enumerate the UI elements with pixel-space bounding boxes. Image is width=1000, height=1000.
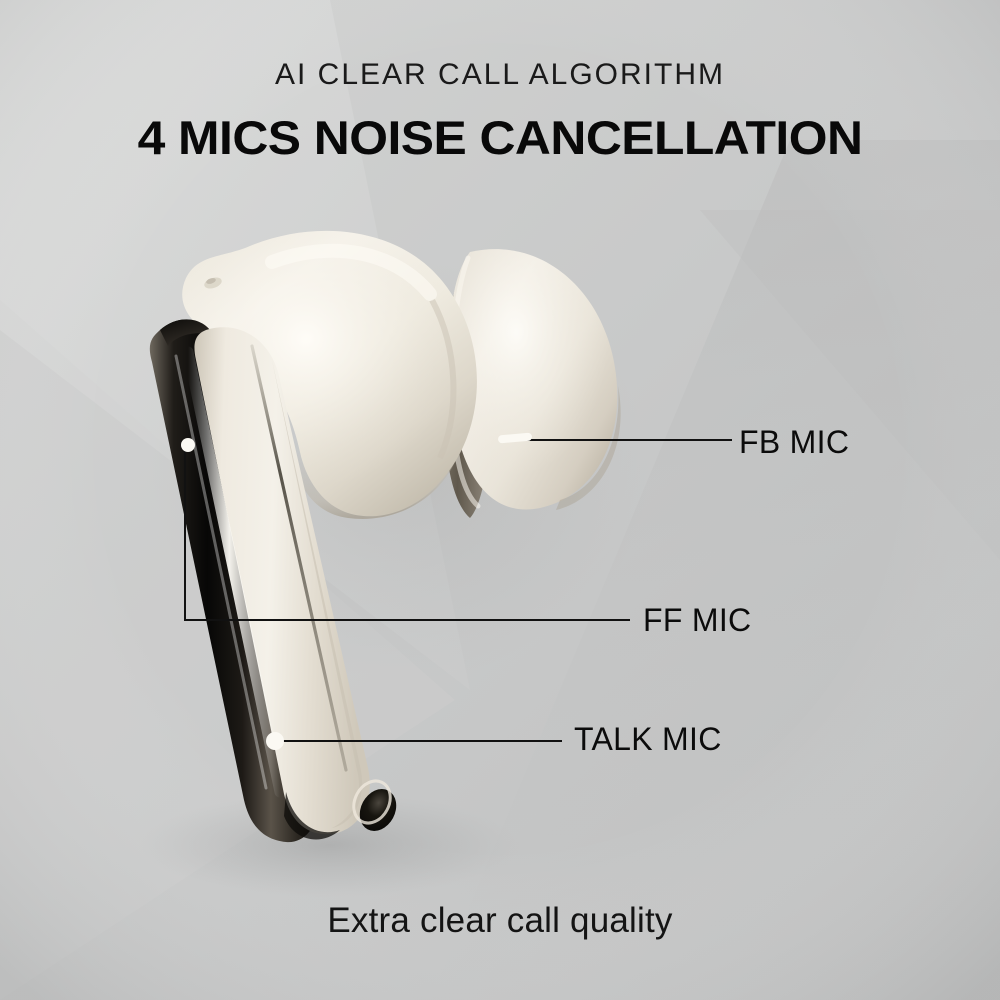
marker-talk-mic [266, 732, 284, 750]
marker-ff-mic [181, 438, 195, 452]
callout-label-ff-mic: FF MIC [643, 604, 751, 636]
callout-label-fb-mic: FB MIC [739, 426, 849, 458]
footer-caption: Extra clear call quality [0, 903, 1000, 938]
callout-label-talk-mic: TALK MIC [574, 723, 722, 755]
page-title: 4 MICS NOISE CANCELLATION [0, 113, 1000, 162]
infographic-canvas: AI CLEAR CALL ALGORITHM 4 MICS NOISE CAN… [0, 0, 1000, 1000]
eyebrow-title: AI CLEAR CALL ALGORITHM [0, 60, 1000, 90]
leader-line-ff-mic [185, 445, 630, 620]
marker-fb-mic [498, 433, 533, 444]
